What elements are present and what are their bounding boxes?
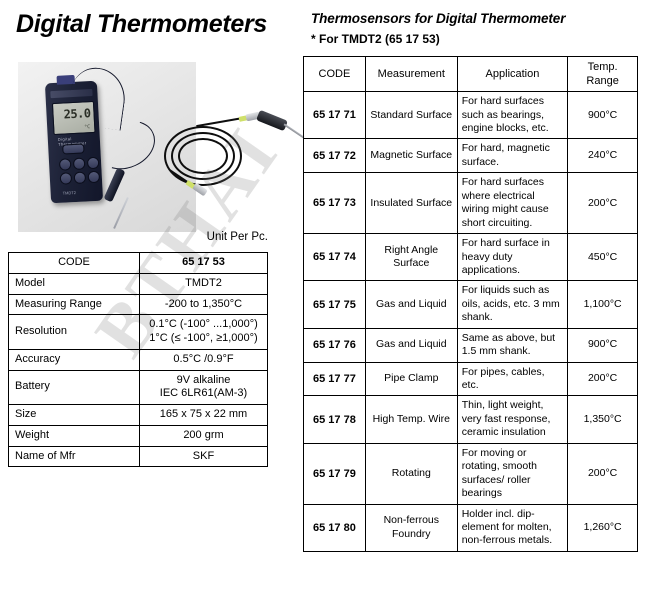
spec-row: Weight200 grm [9, 425, 268, 446]
table-row: 65 17 75Gas and LiquidFor liquids such a… [304, 281, 638, 328]
spec-value: -200 to 1,350°C [140, 294, 268, 315]
spec-label: CODE [9, 253, 140, 274]
table-row: 65 17 74Right Angle SurfaceFor hard surf… [304, 234, 638, 281]
specification-table-body: CODE65 17 53ModelTMDT2Measuring Range-20… [9, 253, 268, 467]
device-button-rec [88, 171, 101, 184]
thermosensors-table: CODEMeasurementApplicationTemp.Range 65 … [303, 56, 638, 552]
spec-value: TMDT2 [140, 273, 268, 294]
spec-row: Battery9V alkalineIEC 6LR61(AM-3) [9, 370, 268, 405]
table-row: 65 17 80Non-ferrous FoundryHolder incl. … [304, 504, 638, 551]
spec-row: Resolution0.1°C (-100° ...1,000°)1°C (≤ … [9, 315, 268, 350]
cell-measurement: Gas and Liquid [365, 328, 457, 362]
device-button-unit [87, 157, 100, 170]
table-row: 65 17 79RotatingFor moving or rotating, … [304, 443, 638, 504]
table-row: 65 17 72Magnetic SurfaceFor hard, magnet… [304, 139, 638, 173]
cell-application: For hard, magnetic surface. [457, 139, 568, 173]
cell-application: For hard surface in heavy duty applicati… [457, 234, 568, 281]
device-model-text: TMDT2 [63, 190, 77, 196]
cell-temp: 1,100°C [568, 281, 638, 328]
spec-label: Weight [9, 425, 140, 446]
cell-temp: 240°C [568, 139, 638, 173]
spec-label: Accuracy [9, 349, 140, 370]
device-button-max [74, 171, 87, 184]
spec-label: Battery [9, 370, 140, 405]
product-photo: 25.0 °C Digital Thermometer TMDT2 [10, 60, 290, 235]
sensor-probe-handle [256, 110, 288, 131]
thermosensors-table-body: 65 17 71Standard SurfaceFor hard surface… [304, 92, 638, 552]
cell-code: 65 17 72 [304, 139, 366, 173]
sensors-title: Thermosensors for Digital Thermometer [311, 11, 565, 26]
cell-application: Thin, light weight, very fast response, … [457, 396, 568, 443]
cell-temp: 450°C [568, 234, 638, 281]
spec-value: 65 17 53 [140, 253, 268, 274]
cell-temp: 900°C [568, 92, 638, 139]
cell-code: 65 17 76 [304, 328, 366, 362]
spec-value: 0.5°C /0.9°F [140, 349, 268, 370]
specification-table: CODE65 17 53ModelTMDT2Measuring Range-20… [8, 252, 268, 467]
table-row: 65 17 71Standard SurfaceFor hard surface… [304, 92, 638, 139]
cell-measurement: Magnetic Surface [365, 139, 457, 173]
cell-measurement: Right Angle Surface [365, 234, 457, 281]
device-button-mode [59, 158, 72, 171]
spec-value: SKF [140, 446, 268, 467]
cell-code: 65 17 78 [304, 396, 366, 443]
cell-application: For hard surfaces where electrical wirin… [457, 173, 568, 234]
cell-measurement: Standard Surface [365, 92, 457, 139]
table-row: 65 17 77Pipe ClampFor pipes, cables, etc… [304, 362, 638, 396]
cell-application: For hard surfaces such as bearings, engi… [457, 92, 568, 139]
cell-measurement: High Temp. Wire [365, 396, 457, 443]
column-header-code: CODE [304, 57, 366, 92]
cell-application: Holder incl. dip-element for molten, non… [457, 504, 568, 551]
column-header-measurement: Measurement [365, 57, 457, 92]
unit-per-pc-note: Unit Per Pc. [10, 231, 268, 243]
cell-application: For liquids such as oils, acids, etc. 3 … [457, 281, 568, 328]
cell-temp: 1,260°C [568, 504, 638, 551]
table-row: 65 17 78High Temp. WireThin, light weigh… [304, 396, 638, 443]
spec-label: Name of Mfr [9, 446, 140, 467]
spec-value: 9V alkalineIEC 6LR61(AM-3) [140, 370, 268, 405]
cell-application: For moving or rotating, smooth surfaces/… [457, 443, 568, 504]
cell-code: 65 17 75 [304, 281, 366, 328]
spec-value: 200 grm [140, 425, 268, 446]
left-column: Digital Thermometers 25.0 °C Digital The… [0, 0, 300, 592]
cell-measurement: Pipe Clamp [365, 362, 457, 396]
table-row: 65 17 73Insulated SurfaceFor hard surfac… [304, 173, 638, 234]
cell-code: 65 17 73 [304, 173, 366, 234]
device-button-min [60, 172, 73, 185]
sensor-cable-coil-inner [178, 138, 228, 174]
spec-label: Measuring Range [9, 294, 140, 315]
cell-measurement: Non-ferrous Foundry [365, 504, 457, 551]
thermosensors-table-head: CODEMeasurementApplicationTemp.Range [304, 57, 638, 92]
cell-measurement: Insulated Surface [365, 173, 457, 234]
spec-row: Name of MfrSKF [9, 446, 268, 467]
thermosensors-header-row: CODEMeasurementApplicationTemp.Range [304, 57, 638, 92]
spec-row: CODE65 17 53 [9, 253, 268, 274]
cell-code: 65 17 74 [304, 234, 366, 281]
column-header-temp-range: Temp.Range [568, 57, 638, 92]
cell-temp: 200°C [568, 362, 638, 396]
cell-measurement: Rotating [365, 443, 457, 504]
cell-temp: 900°C [568, 328, 638, 362]
spec-row: ModelTMDT2 [9, 273, 268, 294]
spec-label: Model [9, 273, 140, 294]
sensor-cable-lead-top [196, 117, 244, 127]
spec-row: Accuracy0.5°C /0.9°F [9, 349, 268, 370]
cell-measurement: Gas and Liquid [365, 281, 457, 328]
cell-code: 65 17 80 [304, 504, 366, 551]
cell-temp: 200°C [568, 443, 638, 504]
sensors-subtitle: * For TMDT2 (65 17 53) [311, 32, 440, 46]
table-row: 65 17 76Gas and LiquidSame as above, but… [304, 328, 638, 362]
cell-application: Same as above, but 1.5 mm shank. [457, 328, 568, 362]
cell-code: 65 17 79 [304, 443, 366, 504]
spec-value: 165 x 75 x 22 mm [140, 405, 268, 426]
cell-code: 65 17 77 [304, 362, 366, 396]
cell-temp: 1,350°C [568, 396, 638, 443]
cell-code: 65 17 71 [304, 92, 366, 139]
cell-application: For pipes, cables, etc. [457, 362, 568, 396]
spec-value: 0.1°C (-100° ...1,000°)1°C (≤ -100°, ≥1,… [140, 315, 268, 350]
sensor-probe-tip [283, 123, 304, 138]
column-header-application: Application [457, 57, 568, 92]
spec-row: Measuring Range-200 to 1,350°C [9, 294, 268, 315]
page-title: Digital Thermometers [16, 10, 267, 39]
device-button-hold [73, 157, 86, 170]
cell-temp: 200°C [568, 173, 638, 234]
device-button-power [62, 143, 84, 154]
spec-label: Size [9, 405, 140, 426]
spec-row: Size165 x 75 x 22 mm [9, 405, 268, 426]
spec-label: Resolution [9, 315, 140, 350]
right-column: Thermosensors for Digital Thermometer * … [303, 0, 645, 592]
